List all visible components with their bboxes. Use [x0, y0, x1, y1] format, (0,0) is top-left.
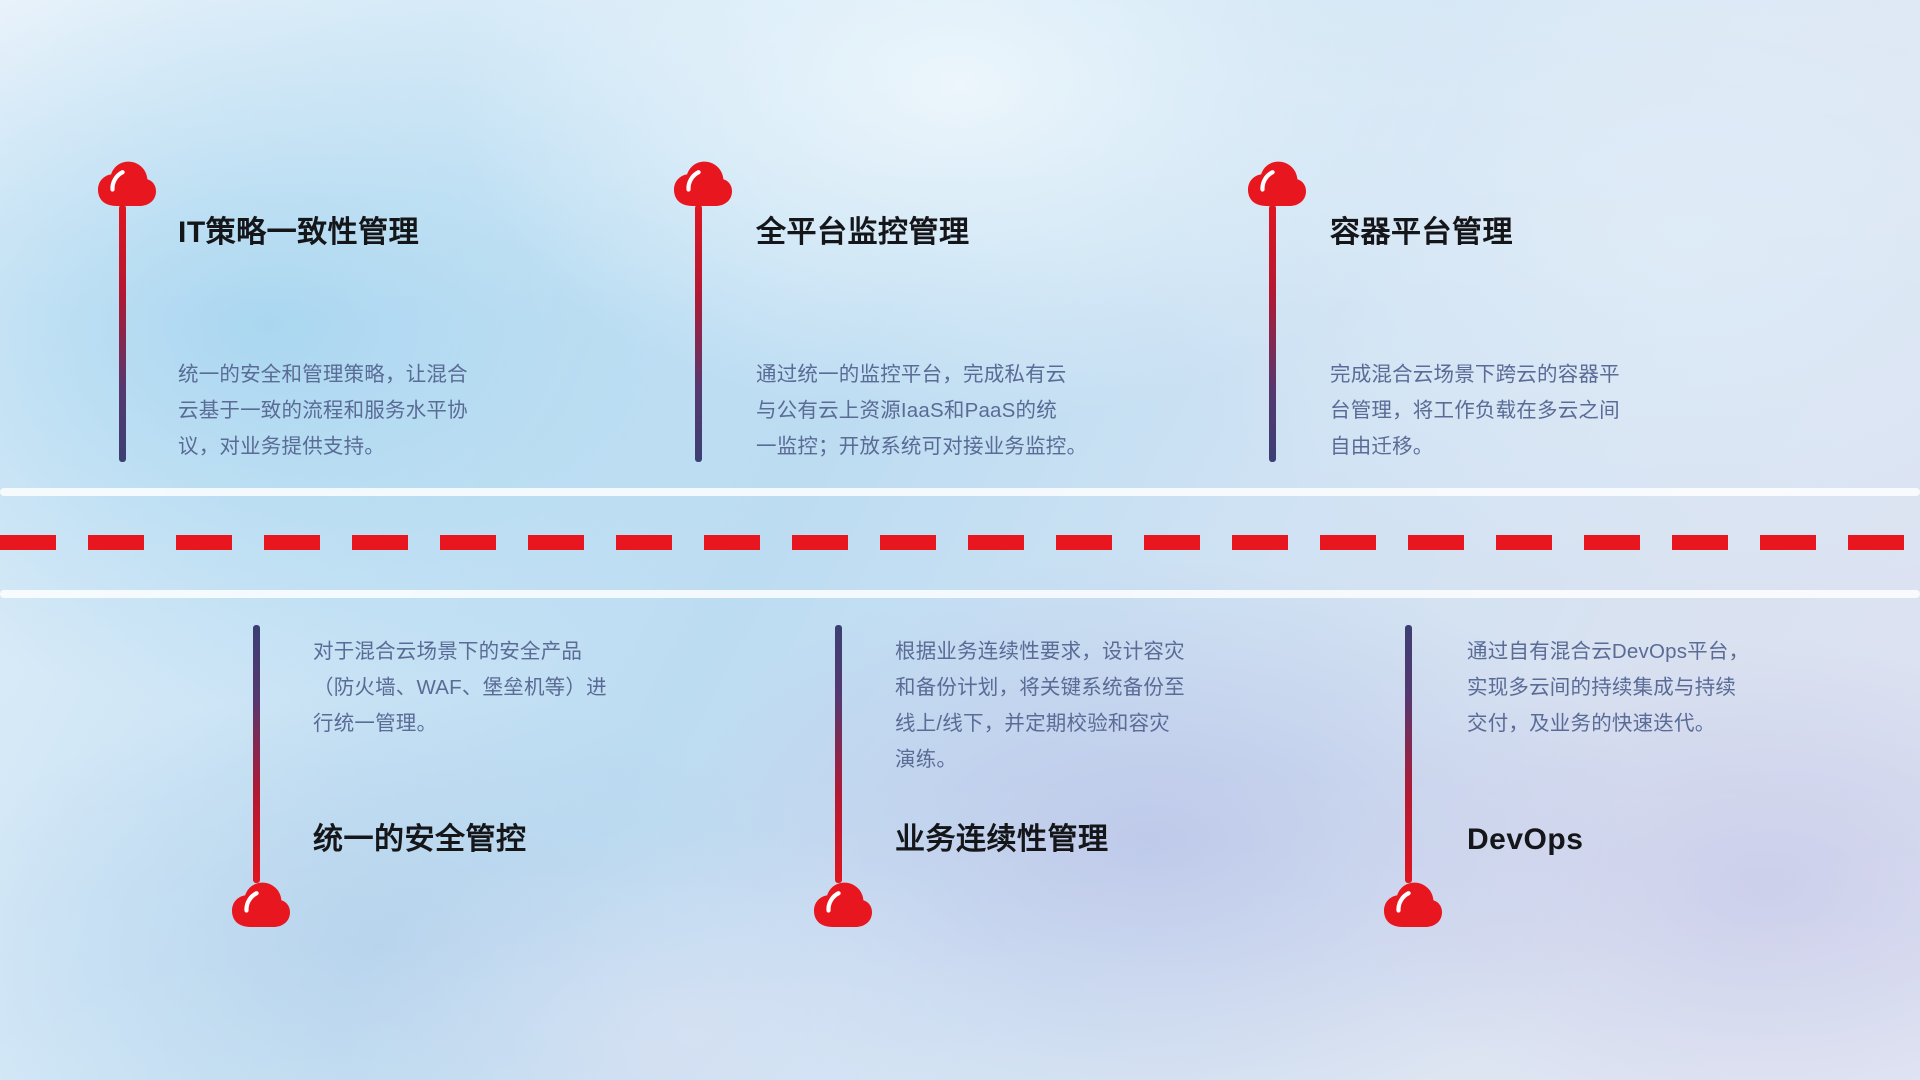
node-heading: 统一的安全管控 [313, 823, 527, 856]
node-heading: 全平台监控管理 [756, 216, 970, 249]
node-heading: IT策略一致性管理 [178, 216, 419, 249]
cloud-icon [812, 882, 874, 928]
node-body-text: 统一的安全和管理策略，让混合 云基于一致的流程和服务水平协 议，对业务提供支持。 [178, 357, 618, 465]
node-body-text: 完成混合云场景下跨云的容器平 台管理，将工作负载在多云之间 自由迁移。 [1330, 357, 1770, 465]
cloud-icon [1382, 882, 1444, 928]
timeline-divider [0, 488, 1920, 598]
node-stem [1405, 625, 1412, 883]
cloud-icon [1246, 161, 1308, 207]
node-stem [119, 205, 126, 462]
node-heading: 业务连续性管理 [895, 823, 1109, 856]
divider-rail-bottom [0, 590, 1920, 598]
node-stem [835, 625, 842, 883]
node-stem [695, 205, 702, 462]
node-body-text: 通过统一的监控平台，完成私有云 与公有云上资源IaaS和PaaS的统 一监控；开… [756, 357, 1196, 465]
cloud-icon [230, 882, 292, 928]
node-stem [253, 625, 260, 883]
cloud-icon [672, 161, 734, 207]
node-body-text: 通过自有混合云DevOps平台， 实现多云间的持续集成与持续 交付，及业务的快速… [1467, 634, 1907, 742]
node-heading: 容器平台管理 [1330, 216, 1513, 249]
node-body-text: 对于混合云场景下的安全产品 （防火墙、WAF、堡垒机等）进 行统一管理。 [313, 634, 753, 742]
cloud-icon [96, 161, 158, 207]
divider-dashed-line [0, 535, 1920, 550]
node-stem [1269, 205, 1276, 462]
node-heading: DevOps [1467, 823, 1583, 856]
divider-rail-top [0, 488, 1920, 496]
node-body-text: 根据业务连续性要求，设计容灾 和备份计划，将关键系统备份至 线上/线下，并定期校… [895, 634, 1335, 778]
